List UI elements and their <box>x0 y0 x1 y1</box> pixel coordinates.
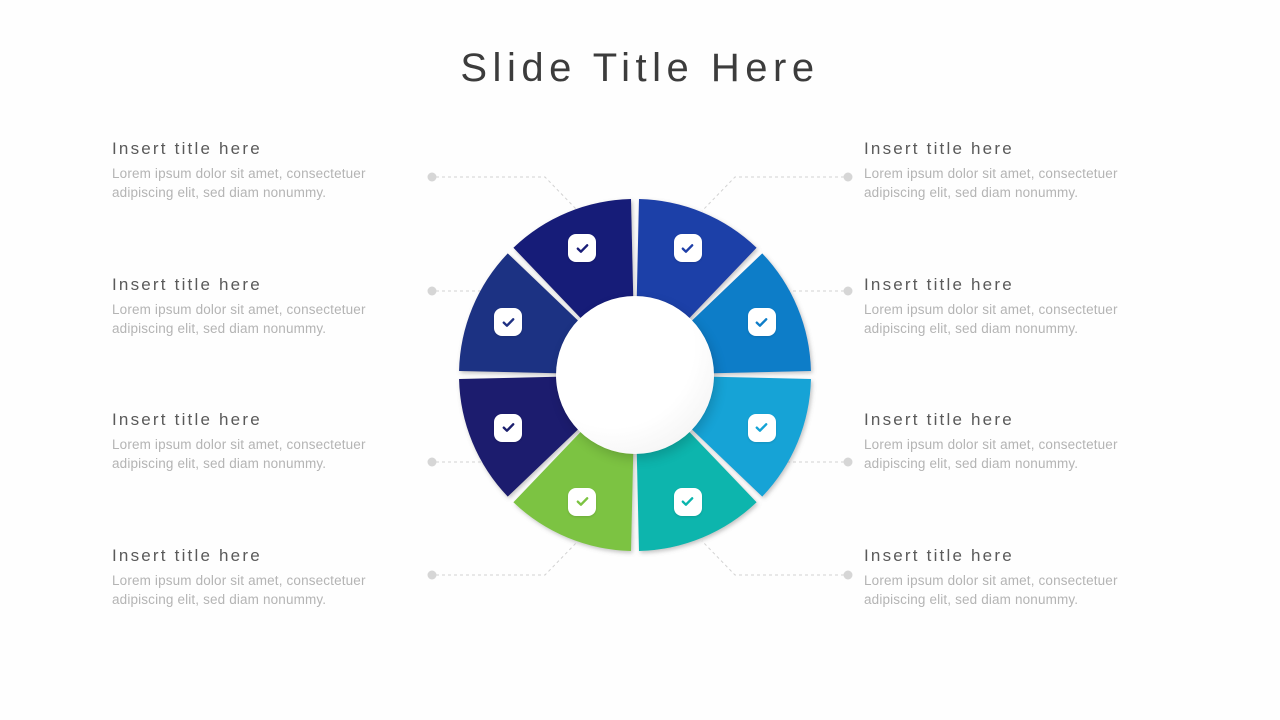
callout-title: Insert title here <box>864 545 1164 566</box>
callout-title: Insert title here <box>112 274 412 295</box>
connector-dot <box>844 287 853 296</box>
callout-right-lower[interactable]: Insert title here Lorem ipsum dolor sit … <box>864 409 1164 474</box>
callout-title: Insert title here <box>864 138 1164 159</box>
callout-body: Lorem ipsum dolor sit amet, consectetuer… <box>112 435 410 473</box>
check-icon[interactable] <box>568 488 596 516</box>
callout-top-right-outer[interactable]: Insert title here Lorem ipsum dolor sit … <box>864 138 1164 203</box>
page-title: Slide Title Here <box>0 44 1280 92</box>
check-icon[interactable] <box>494 414 522 442</box>
callout-body: Lorem ipsum dolor sit amet, consectetuer… <box>864 571 1162 609</box>
check-icon[interactable] <box>568 234 596 262</box>
callout-title: Insert title here <box>112 545 412 566</box>
connector-dot <box>844 571 853 580</box>
connector-dot <box>428 173 437 182</box>
callout-body: Lorem ipsum dolor sit amet, consectetuer… <box>112 300 410 338</box>
callout-body: Lorem ipsum dolor sit amet, consectetuer… <box>112 164 410 202</box>
connector-dot <box>428 571 437 580</box>
callout-bottom-left-outer[interactable]: Insert title here Lorem ipsum dolor sit … <box>112 545 412 610</box>
connector-dot <box>428 458 437 467</box>
callout-right-upper[interactable]: Insert title here Lorem ipsum dolor sit … <box>864 274 1164 339</box>
callout-body: Lorem ipsum dolor sit amet, consectetuer… <box>112 571 410 609</box>
wheel-center-hub[interactable] <box>556 296 714 454</box>
callout-body: Lorem ipsum dolor sit amet, consectetuer… <box>864 435 1162 473</box>
callout-title: Insert title here <box>864 409 1164 430</box>
callout-title: Insert title here <box>112 409 412 430</box>
connector-dot <box>428 287 437 296</box>
callout-title: Insert title here <box>112 138 412 159</box>
callout-body: Lorem ipsum dolor sit amet, consectetuer… <box>864 164 1162 202</box>
connector-dot <box>844 173 853 182</box>
callout-top-left-outer[interactable]: Insert title here Lorem ipsum dolor sit … <box>112 138 412 203</box>
callout-left-upper[interactable]: Insert title here Lorem ipsum dolor sit … <box>112 274 412 339</box>
check-icon[interactable] <box>674 234 702 262</box>
check-icon[interactable] <box>674 488 702 516</box>
check-icon[interactable] <box>748 308 776 336</box>
callout-left-lower[interactable]: Insert title here Lorem ipsum dolor sit … <box>112 409 412 474</box>
check-icon[interactable] <box>494 308 522 336</box>
connector-dot <box>844 458 853 467</box>
slide-canvas: Slide Title Here <box>0 0 1280 720</box>
donut-wheel-diagram <box>457 197 813 553</box>
check-icon[interactable] <box>748 414 776 442</box>
callout-body: Lorem ipsum dolor sit amet, consectetuer… <box>864 300 1162 338</box>
callout-bottom-right-outer[interactable]: Insert title here Lorem ipsum dolor sit … <box>864 545 1164 610</box>
callout-title: Insert title here <box>864 274 1164 295</box>
